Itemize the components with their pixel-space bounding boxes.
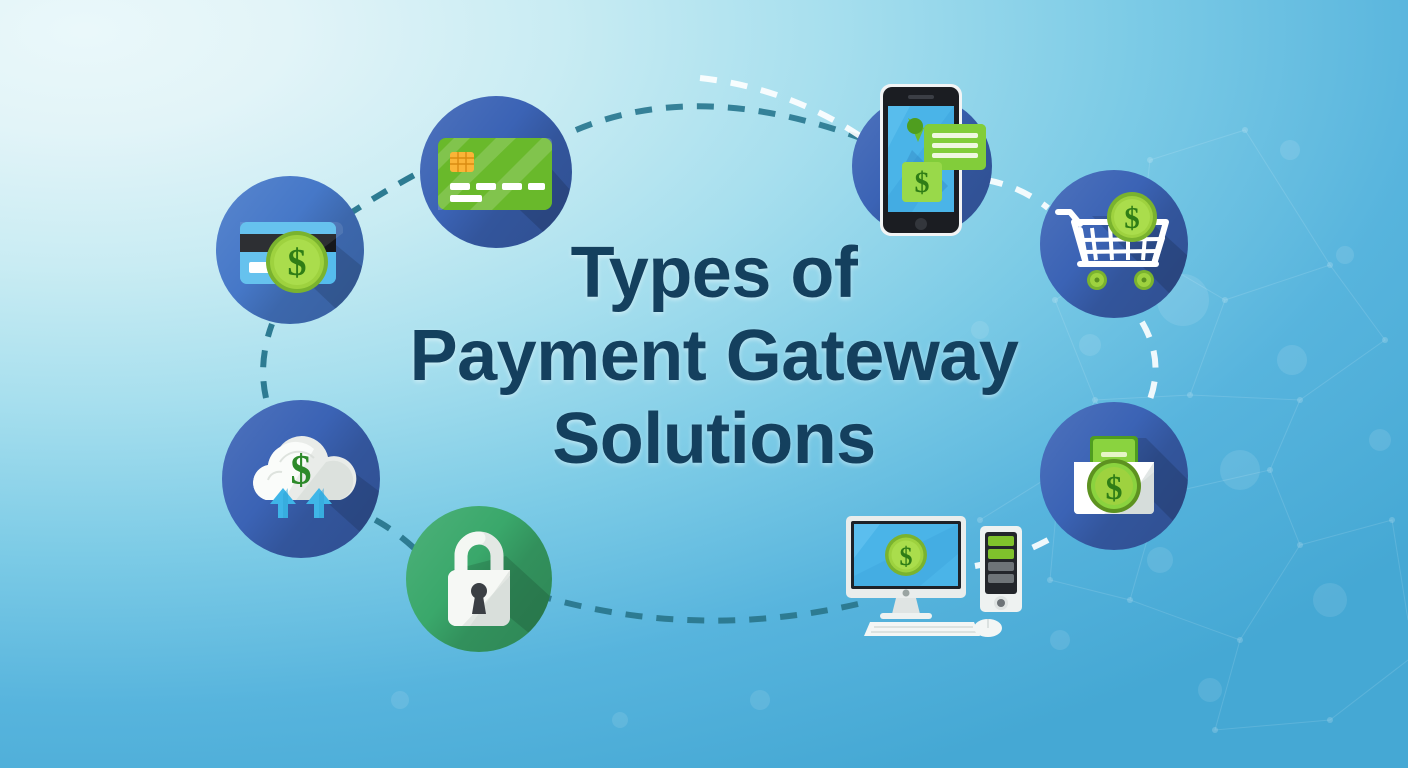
node-credit-card[interactable] [420, 96, 572, 248]
connector-mobile-to-cart [986, 180, 1048, 208]
node-cash-envelope[interactable]: $ [1040, 402, 1188, 550]
svg-text:$: $ [1106, 470, 1123, 507]
node-cloud-payment[interactable]: $ [222, 400, 380, 558]
svg-text:$: $ [915, 166, 930, 199]
infographic-canvas: Types of Payment Gateway Solutions $ [0, 0, 1408, 768]
svg-text:$: $ [1124, 200, 1140, 235]
svg-text:$: $ [288, 242, 307, 284]
node-debit-card[interactable]: $ [216, 176, 364, 324]
svg-text:$: $ [291, 448, 312, 494]
cash-envelope-coin-icon: $ [1040, 402, 1188, 550]
page-title: Types of Payment Gateway Solutions [392, 232, 1036, 481]
connector-cloud-to-debit [263, 324, 272, 398]
shopping-cart-coin-icon: $ [1040, 170, 1188, 318]
debit-card-coin-icon: $ [216, 176, 364, 324]
connector-credit-to-mobile [576, 106, 866, 140]
title-line-2: Payment Gateway [392, 315, 1036, 398]
cloud-upload-money-icon: $ [222, 400, 380, 558]
node-secure-lock[interactable] [406, 506, 552, 652]
mobile-phone-payment-icon: $ [852, 58, 992, 244]
node-shopping-cart[interactable]: $ [1040, 170, 1188, 318]
svg-text:$: $ [900, 542, 913, 571]
connector-credit-to-mobile-white [700, 78, 866, 140]
desktop-computer-payment-icon[interactable]: $ [836, 508, 1046, 648]
connector-computer-to-lock [548, 598, 858, 621]
title-line-3: Solutions [392, 398, 1036, 481]
credit-card-chip-icon [420, 96, 572, 248]
padlock-security-icon [406, 506, 552, 652]
